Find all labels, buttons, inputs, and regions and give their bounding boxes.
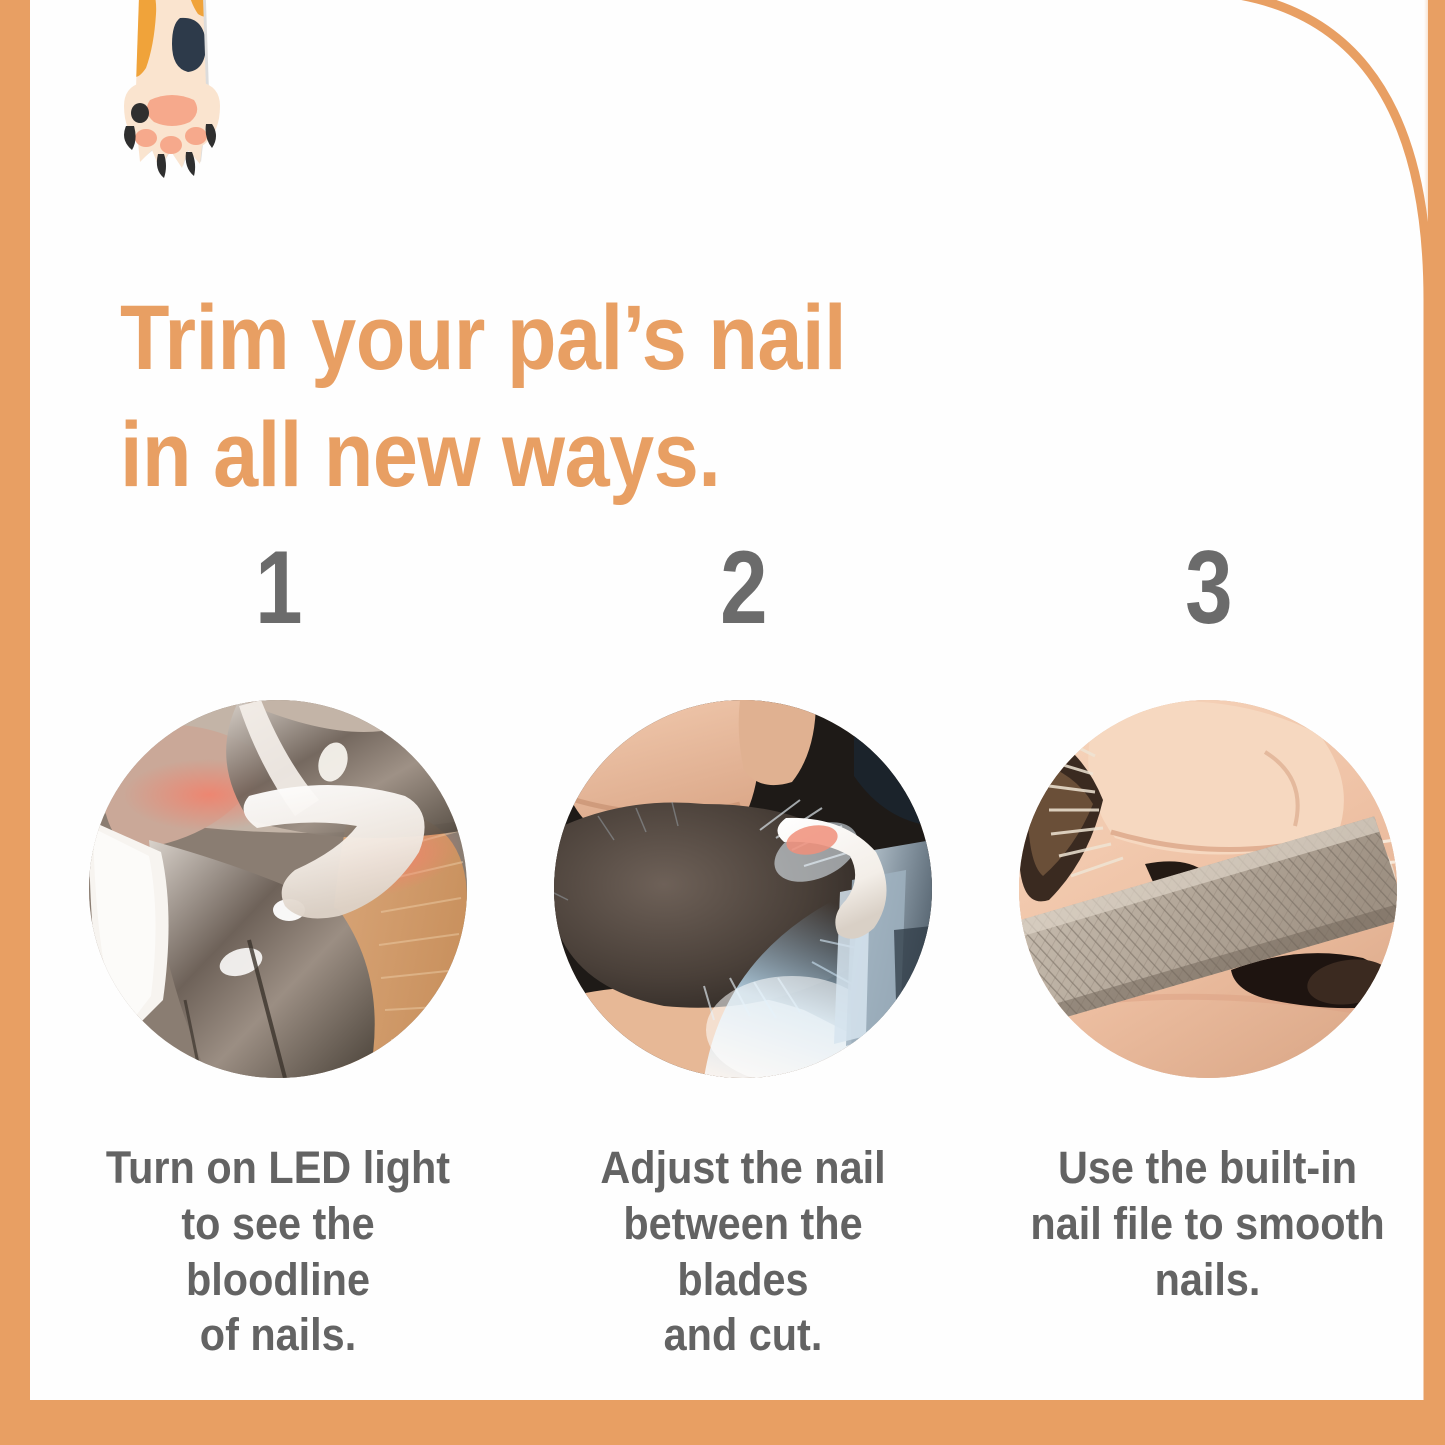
step-1: 1: [78, 536, 478, 1363]
nail-file-smoothing-photo: [1019, 700, 1397, 1078]
step-3: 3: [1008, 536, 1408, 1363]
step-number-2: 2: [720, 536, 767, 640]
cat-paw-illustration: [102, 0, 240, 178]
step-caption-2: Adjust the nail between the blades and c…: [559, 1140, 927, 1363]
step-caption-1: Turn on LED light to see the bloodline o…: [94, 1140, 462, 1363]
steps-row: 1: [78, 536, 1408, 1363]
step-1-photo-art: [89, 700, 467, 1078]
cat-paw-icon: [102, 0, 240, 178]
step-caption-3: Use the built-in nail file to smooth nai…: [1031, 1140, 1385, 1307]
led-light-bloodline-photo: [89, 700, 467, 1078]
headline-line-2: in all new ways.: [120, 397, 1000, 515]
promo-infographic-page: Trim your pal’s nail in all new ways. 1: [0, 0, 1445, 1445]
step-2-photo-art: [554, 700, 932, 1078]
white-content-card: Trim your pal’s nail in all new ways. 1: [30, 0, 1428, 1400]
step-3-photo-art: [1019, 700, 1397, 1078]
page-headline: Trim your pal’s nail in all new ways.: [120, 280, 1000, 516]
step-number-3: 3: [1185, 536, 1232, 640]
step-number-1: 1: [255, 536, 302, 640]
adjust-nail-between-blades-photo: [554, 700, 932, 1078]
headline-line-1: Trim your pal’s nail: [120, 280, 1000, 398]
step-2: 2: [543, 536, 943, 1363]
